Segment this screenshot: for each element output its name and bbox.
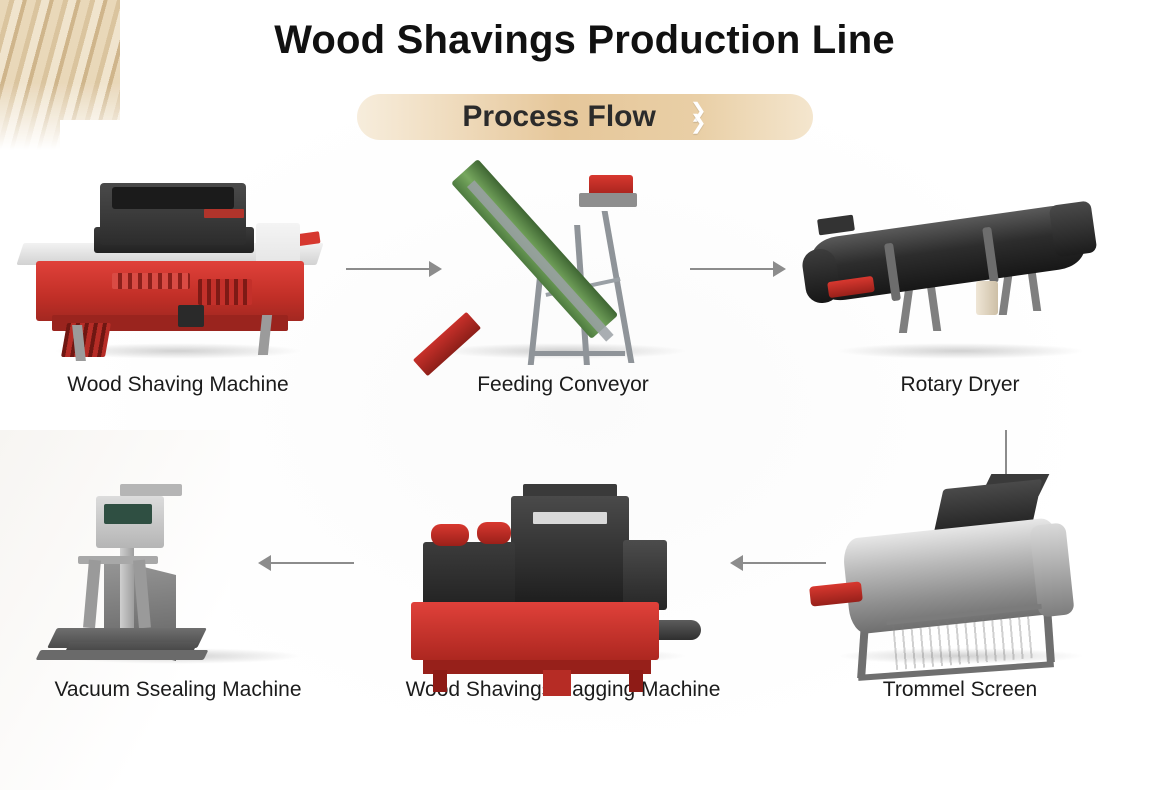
trommel-screen-image [790, 470, 1130, 670]
dryer-discharge-tube [976, 281, 998, 315]
wood-shavings-bagging-machine-image [393, 470, 733, 670]
bagging-leg-right [629, 670, 643, 692]
sealer-clamp-left [83, 560, 101, 629]
arrow-head [730, 555, 743, 571]
feeding-conveyor-image [393, 165, 733, 365]
flow-step-label: Rotary Dryer [790, 373, 1130, 397]
bagging-hydraulic-tank [423, 542, 515, 608]
flow-step-wood-shaving-machine: Wood Shaving Machine [8, 165, 348, 397]
arrow-head [258, 555, 271, 571]
shaving-machine-hopper-opening [112, 187, 234, 209]
sealer-foot [36, 650, 209, 660]
dryer-leg-2 [927, 285, 941, 331]
bagging-motor-2 [477, 522, 511, 544]
machine-shadow [835, 343, 1085, 359]
bagging-right-housing [623, 540, 667, 610]
flow-step-label: Trommel Screen [790, 678, 1130, 702]
shaving-machine-vent-right [198, 279, 252, 305]
sealer-top-arm [120, 484, 182, 496]
arrow-shaft [271, 562, 354, 564]
shaving-machine-logo [204, 209, 244, 218]
double-chevron-down-icon: ❯❯ [690, 105, 707, 129]
flow-step-label: Vacuum Ssealing Machine [8, 678, 348, 702]
conveyor-base-crossbar [533, 351, 625, 356]
process-flow-badge: Process Flow ❯❯ [357, 94, 813, 140]
flow-step-trommel-screen: Trommel Screen [790, 470, 1130, 702]
dryer-leg-1 [899, 289, 913, 333]
arrow-shaft [690, 268, 773, 270]
shaving-machine-knob-row [112, 273, 190, 289]
bagging-motor-1 [431, 524, 469, 546]
process-flow-label: Process Flow [462, 100, 655, 134]
flow-step-wood-shavings-bagging-machine: Wood Shavings Bagging Machine [393, 470, 733, 702]
flow-step-vacuum-sealing-machine: Vacuum Ssealing Machine [8, 470, 348, 702]
arrow-head [773, 261, 786, 277]
shaving-machine-body [36, 261, 304, 321]
flow-step-label: Wood Shaving Machine [8, 373, 348, 397]
dryer-outlet-cap [1049, 200, 1098, 257]
wood-shaving-machine-image [8, 165, 348, 365]
bagging-leg-center [543, 670, 571, 696]
arrow-step2-to-step3 [690, 258, 786, 280]
arrow-step5-to-step6 [258, 552, 354, 574]
bagging-frame-rail [423, 660, 651, 674]
page-title: Wood Shavings Production Line [0, 18, 1169, 63]
shaving-machine-vent-left [61, 323, 111, 357]
flow-step-label: Feeding Conveyor [393, 373, 733, 397]
conveyor-head-frame [579, 193, 637, 207]
rotary-dryer-image [790, 165, 1130, 365]
flow-step-rotary-dryer: Rotary Dryer [790, 165, 1130, 397]
shaving-machine-access-panel [178, 305, 204, 327]
dryer-top-box [817, 215, 855, 236]
bagging-leg-left [433, 670, 447, 692]
bagging-red-frame [411, 602, 659, 660]
bagging-brand-logo [533, 512, 607, 524]
flow-step-feeding-conveyor: Feeding Conveyor [393, 165, 733, 397]
sealer-display-screen [104, 504, 152, 524]
